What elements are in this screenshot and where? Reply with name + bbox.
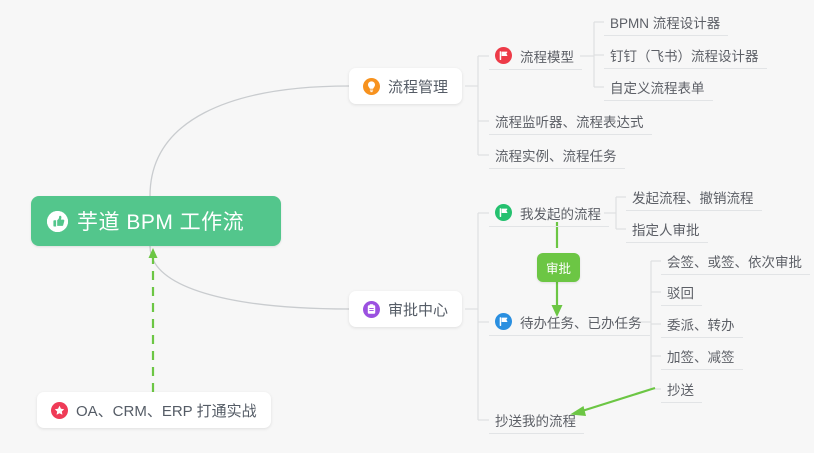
branch-label: 流程管理	[388, 76, 448, 97]
node-process-listener-expression[interactable]: 流程监听器、流程表达式	[489, 107, 652, 135]
node-custom-process-form[interactable]: 自定义流程表单	[604, 73, 713, 101]
node-label: 发起流程、撤销流程	[632, 187, 754, 207]
star-icon	[51, 402, 68, 419]
node-label: 指定人审批	[632, 219, 700, 239]
branch-label: 审批中心	[388, 299, 448, 320]
flag-icon-green	[495, 204, 512, 221]
branch-process-management[interactable]: 流程管理	[349, 68, 462, 104]
node-cc[interactable]: 抄送	[661, 375, 702, 403]
flag-icon-blue	[495, 313, 512, 330]
node-my-initiated-process[interactable]: 我发起的流程	[489, 199, 609, 227]
clipboard-icon	[363, 301, 380, 318]
node-label: 自定义流程表单	[610, 77, 705, 97]
root-node[interactable]: 芋道 BPM 工作流	[31, 196, 281, 246]
node-process-instance-task[interactable]: 流程实例、流程任务	[489, 141, 625, 169]
node-process-model[interactable]: 流程模型	[489, 42, 582, 70]
node-label: 流程模型	[520, 46, 574, 66]
node-bpmn-designer[interactable]: BPMN 流程设计器	[604, 8, 728, 36]
node-start-cancel-process[interactable]: 发起流程、撤销流程	[626, 183, 762, 211]
node-label: 会签、或签、依次审批	[667, 251, 802, 271]
node-label: 抄送我的流程	[495, 410, 576, 430]
node-delegate-transfer[interactable]: 委派、转办	[661, 310, 743, 338]
footer-node-oa-crm-erp[interactable]: OA、CRM、ERP 打通实战	[37, 392, 271, 428]
node-label: 钉钉（飞书）流程设计器	[610, 45, 759, 65]
node-label: 加签、减签	[667, 346, 735, 366]
node-label: 抄送	[667, 379, 694, 399]
node-todo-done-tasks[interactable]: 待办任务、已办任务	[489, 308, 650, 336]
node-label: 委派、转办	[667, 314, 735, 334]
root-label: 芋道 BPM 工作流	[77, 206, 244, 236]
node-counter-or-sequential-sign[interactable]: 会签、或签、依次审批	[661, 247, 810, 275]
flag-icon-red	[495, 47, 512, 64]
approval-annotation-badge: 审批	[537, 253, 580, 282]
node-label: 我发起的流程	[520, 203, 601, 223]
node-dingtalk-feishu-designer[interactable]: 钉钉（飞书）流程设计器	[604, 41, 767, 69]
mindmap-canvas: 芋道 BPM 工作流 流程管理 流程模型 BPMN 流程设计器 钉钉（飞书）流程…	[0, 0, 814, 453]
node-label: 流程实例、流程任务	[495, 145, 617, 165]
node-label: 待办任务、已办任务	[520, 312, 642, 332]
footer-to-root-arrow	[149, 248, 158, 392]
node-label: 流程监听器、流程表达式	[495, 111, 644, 131]
footer-node-label: OA、CRM、ERP 打通实战	[76, 400, 257, 421]
branch-approval-center[interactable]: 审批中心	[349, 291, 462, 327]
node-cc-to-me-process[interactable]: 抄送我的流程	[489, 406, 584, 434]
node-label: 驳回	[667, 282, 694, 302]
lightbulb-icon	[363, 78, 380, 95]
node-label: BPMN 流程设计器	[610, 12, 720, 32]
thumbs-up-icon	[47, 211, 68, 232]
node-assignee-approval[interactable]: 指定人审批	[626, 215, 708, 243]
node-add-remove-sign[interactable]: 加签、减签	[661, 342, 743, 370]
node-reject[interactable]: 驳回	[661, 278, 702, 306]
